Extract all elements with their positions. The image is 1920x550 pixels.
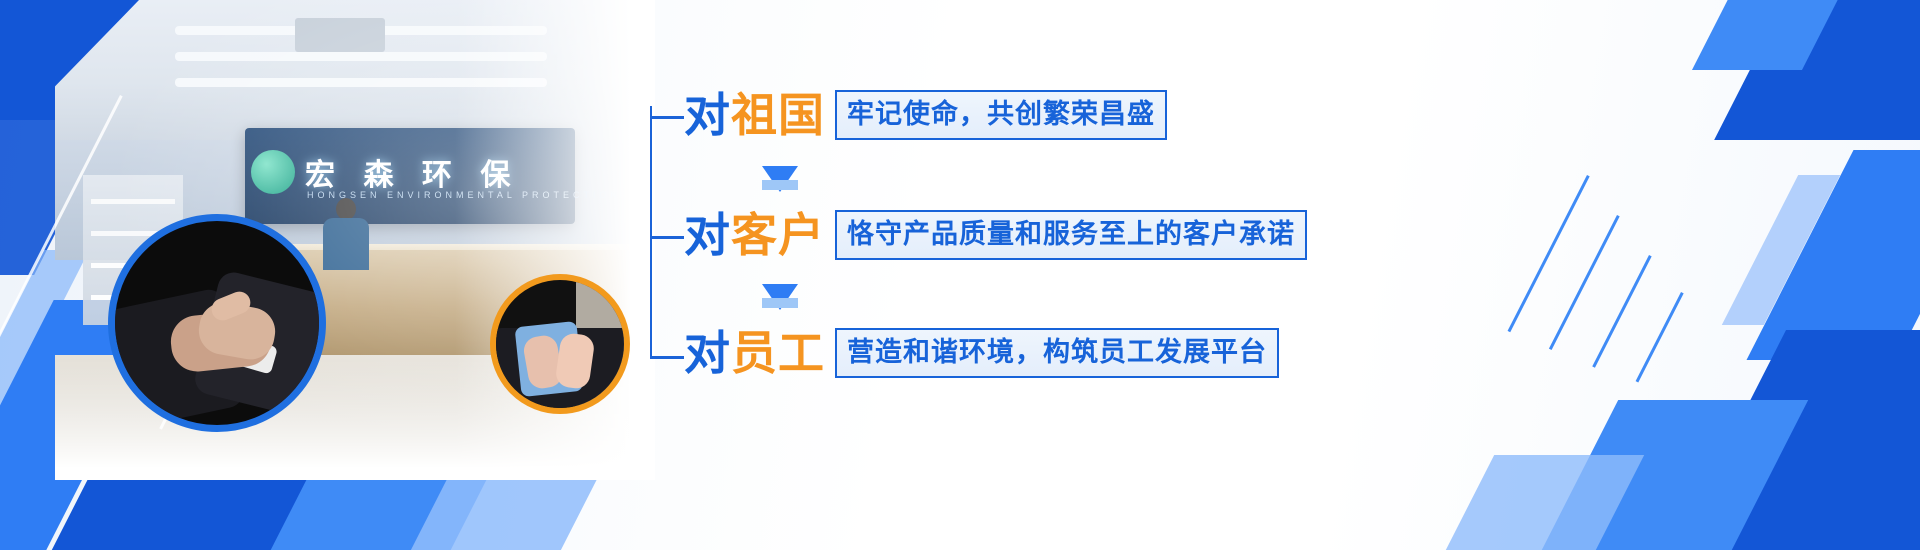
slogan-lead-customer: 对客户 (684, 212, 825, 258)
slogan-prefix: 对 (684, 88, 731, 142)
slogan-lead-country: 对祖国 (684, 92, 825, 138)
slogan-statement-customer: 恪守产品质量和服务至上的客户承诺 (835, 210, 1307, 260)
decor-shape-right-3 (1746, 150, 1920, 360)
slogan-prefix: 对 (684, 326, 731, 380)
handshake-circle-photo (108, 214, 326, 432)
slogan-row-country: 对祖国 牢记使命，共创繁荣昌盛 (684, 90, 1167, 140)
arrow-cap-1 (762, 180, 798, 190)
slogan-group: 对祖国 牢记使命，共创繁荣昌盛 对客户 恪守产品质量和服务至上的客户承诺 对员工… (650, 70, 1370, 400)
slogan-target: 祖国 (731, 88, 825, 142)
bracket-tick-3 (650, 356, 684, 359)
decor-shape-right-4 (1674, 330, 1920, 550)
decor-shape-right-7 (1722, 175, 1840, 325)
arrow-cap-2 (762, 298, 798, 308)
decor-shape-right-5 (1542, 400, 1808, 550)
slogan-target: 客户 (731, 208, 825, 262)
decor-shape-right-6 (1446, 455, 1644, 550)
slogan-target: 员工 (731, 326, 825, 380)
bracket-tick-2 (650, 236, 684, 239)
decor-line-right-1 (1508, 175, 1590, 332)
slogan-statement-employee: 营造和谐环境，构筑员工发展平台 (835, 328, 1279, 378)
decor-line-right-3 (1592, 255, 1651, 368)
decor-shape-left-7 (408, 470, 601, 550)
slogan-row-customer: 对客户 恪守产品质量和服务至上的客户承诺 (684, 210, 1307, 260)
decor-shape-right-1 (1714, 0, 1920, 140)
applause-circle-photo (490, 274, 630, 414)
slogan-row-employee: 对员工 营造和谐环境，构筑员工发展平台 (684, 328, 1279, 378)
slogan-lead-employee: 对员工 (684, 330, 825, 376)
bracket-vertical-line (650, 106, 652, 358)
corporate-culture-banner: 宏 森 环 保 HONGSEN ENVIRONMENTAL PROTECTION (0, 0, 1920, 550)
slogan-statement-country: 牢记使命，共创繁荣昌盛 (835, 90, 1167, 140)
decor-line-right-4 (1636, 292, 1684, 382)
bracket-tick-1 (650, 116, 684, 119)
down-arrow-icon-1 (762, 166, 798, 192)
down-arrow-icon-2 (762, 284, 798, 310)
slogan-prefix: 对 (684, 208, 731, 262)
decor-shape-right-2 (1692, 0, 1858, 70)
